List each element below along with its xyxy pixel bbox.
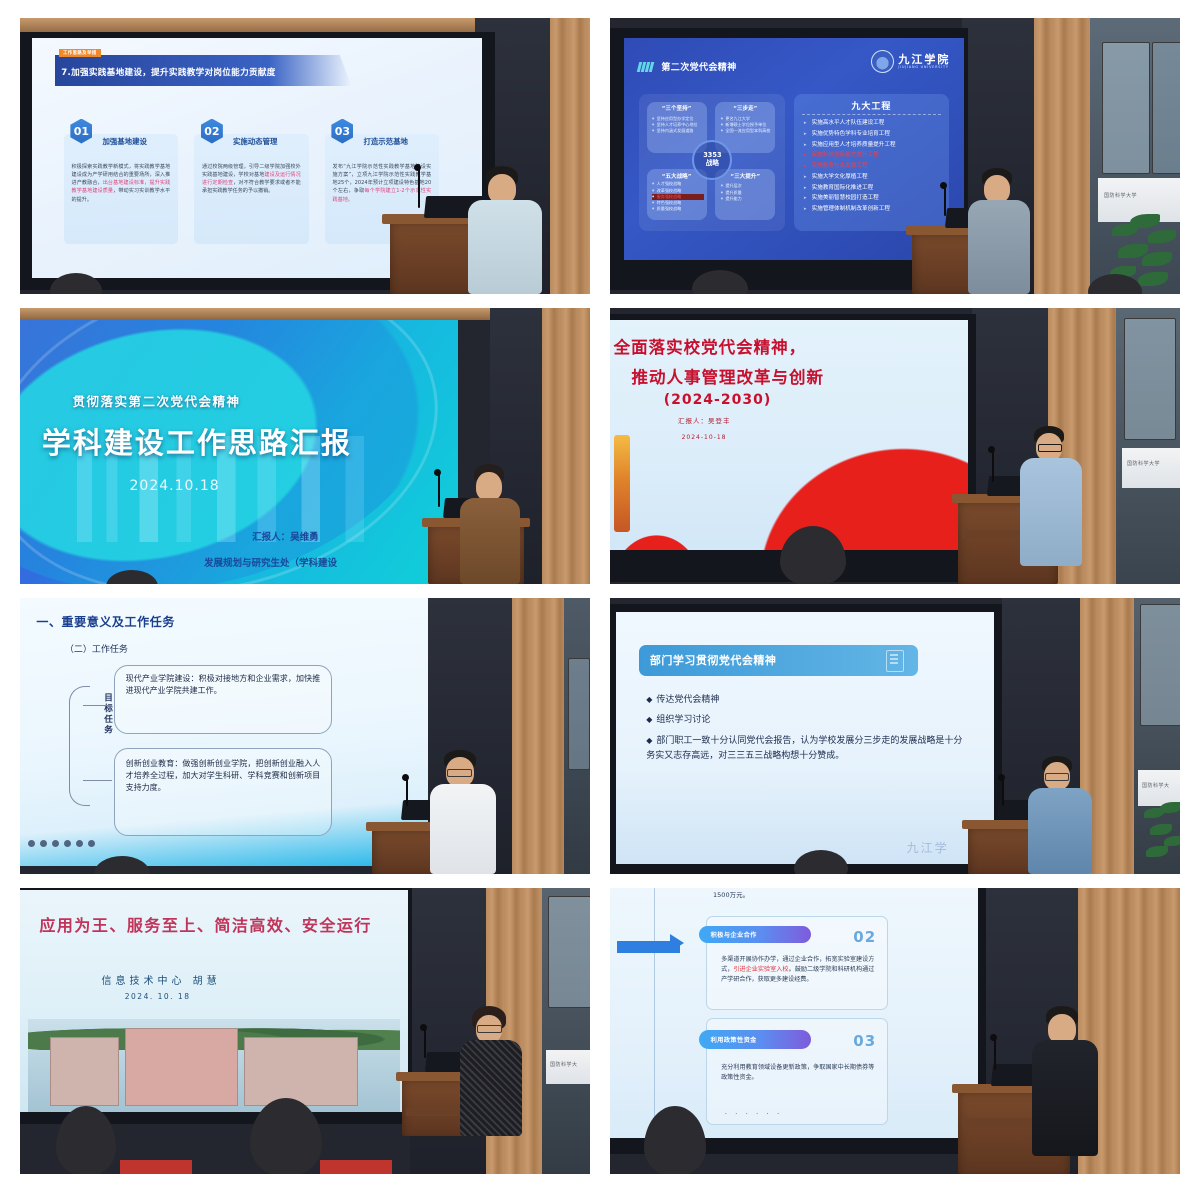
eyeglasses-icon — [1038, 444, 1062, 452]
quadrant-item: 提升能力 — [721, 196, 773, 202]
window-pane — [568, 658, 590, 770]
window-pane — [548, 896, 590, 1008]
project-item: 实施大学文化厚植工程 — [803, 172, 942, 183]
name-card — [120, 1160, 192, 1174]
card-title-03: 打造示范基地 — [364, 136, 408, 147]
speaker-body — [1032, 1040, 1098, 1156]
project-item: 实施高水平人才队伍建设工程 — [803, 118, 942, 129]
wall-poster: 国防科学大 — [546, 1050, 590, 1084]
microphone-stand — [994, 1038, 996, 1070]
slide-card-02: 02 实施动态管理 通过校院两级管理，引导二级学院加强校外实践基地建设，学校对基… — [194, 134, 309, 244]
card-body-highlight: 引进企业实验室入校 — [733, 966, 788, 973]
project-item: 实施管理体制机制改革创新工程 — [803, 204, 942, 215]
vertical-guide — [654, 888, 655, 1138]
card-chip: 积极与企业合作 — [699, 926, 811, 944]
university-name-en: JIUJIANG UNIVERSITY — [898, 65, 950, 69]
quadrant-items: 更名九江大学 新增硕士学位授予单位 全国一流应用型本科高校 — [721, 116, 773, 135]
card-body: 多渠道开展协作办学，通过企业合作，拓宽实验室建设方式，引进企业实验室入校。鼓励二… — [721, 955, 874, 985]
window-pane — [1140, 604, 1180, 726]
speaker-body — [468, 200, 542, 294]
card-body: 充分利用教育领域设备更新政策，争取国家中长期债券等政策性资金。 — [721, 1063, 874, 1083]
arrow-icon — [617, 941, 680, 954]
slide-pill-title: 部门学习贯彻党代会精神 — [650, 652, 777, 668]
photo-panel-7: 国防科学大 应用为王、服务至上、简洁高效、安全运行 信息技术中心 胡慧 2024… — [20, 888, 590, 1174]
microphone-stand — [424, 1028, 426, 1058]
wood-wall-right — [550, 18, 590, 294]
poster-text: 国防科学大 — [1142, 782, 1170, 789]
project-item: 实施应用型人才培养质量提升工程 — [803, 140, 942, 151]
card-number-01: 01 — [70, 119, 92, 144]
photo-panel-6: 国防科学大 部门学习贯彻党代会精神 传达党代会精神 组织学习讨论 部门职工一致十… — [610, 598, 1180, 874]
project-item: 实施教育国际化推进工程 — [803, 183, 942, 194]
microphone-stand — [992, 450, 994, 482]
photo-panel-8: 1500万元。 积极与企业合作 02 多渠道开展协作办学，通过企业合作，拓宽实验… — [610, 888, 1180, 1174]
torch-graphic — [614, 435, 630, 532]
slide-top-text: 1500万元。 — [713, 891, 749, 901]
speaker-body — [460, 1040, 522, 1136]
photo-panel-4: 国防科学大学 全面落实校党代会精神， 推动人事管理改革与创新 (2024-203… — [610, 308, 1180, 584]
slide-date: 2024-10-18 — [682, 434, 727, 441]
slide-presenter: 汇报人：吴维勇 — [252, 529, 319, 543]
eyeglasses-icon — [447, 769, 472, 777]
task-box-1: 现代产业学院建设：积极对接地方和企业需求，加快推进现代产业学院共建工作。 — [114, 665, 332, 734]
quadrant-item: 质量强校战略 — [652, 206, 704, 212]
card-number: 03 — [853, 1032, 876, 1050]
microphone-head — [998, 774, 1005, 781]
poster-text: 国防科学大学 — [1104, 192, 1137, 199]
task-box-text: 现代产业学院建设：积极对接地方和企业需求，加快推进现代产业学院共建工作。 — [126, 673, 321, 697]
wood-wall-right — [542, 308, 590, 584]
slide-date: 2024. 10. 18 — [125, 992, 191, 1001]
quadrant-title: “三个坚持” — [647, 104, 707, 112]
slide-subheading: （二）工作任务 — [65, 642, 128, 655]
slide-presenter: 信息技术中心 胡慧 — [101, 972, 220, 987]
wall-poster: 国防科学大 — [1138, 770, 1180, 806]
slide-title-line2: 推动人事管理改革与创新 — [631, 364, 824, 388]
task-box-2: 创新创业教育：做强创新创业学院，把创新创业融入人才培养全过程，加大对学生科研、学… — [114, 748, 332, 836]
card-number-02: 02 — [201, 119, 223, 144]
slide-presenter: 汇报人：吴登丰 — [678, 415, 731, 425]
slide-title: 应用为王、服务至上、简洁高效、安全运行 — [39, 912, 372, 936]
slide-date: 2024.10.18 — [130, 478, 220, 494]
university-seal-icon — [871, 50, 894, 73]
building-block — [50, 1037, 119, 1106]
connector-line — [83, 780, 112, 781]
core-label: 战略 — [706, 160, 719, 168]
quadrant-3: “五大战略” 人才强校战略 改革强校战略 服务强校战略 特色强校战略 质量强校战… — [647, 169, 707, 220]
poster-text: 国防科学大 — [550, 1061, 578, 1068]
project-item: 实施美丽智慧校园打造工程 — [803, 193, 942, 204]
speaker — [1020, 426, 1082, 566]
card-body-02: 通过校院两级管理，引导二级学院加强校外实践基地建设，学校对基地建设及运行情况进行… — [202, 163, 301, 196]
window-pane — [1152, 42, 1180, 174]
university-logo: 九江学院 JIUJIANG UNIVERSITY — [871, 50, 950, 73]
quadrant-item: 坚持内涵式发展道路 — [652, 128, 704, 134]
quadrant-items: 提升层次 提升质量 提升能力 — [721, 183, 773, 202]
quadrant-items: 坚持应用型办学定位 坚持人才培养中心地位 坚持内涵式发展道路 — [652, 116, 704, 135]
bullet-item: 部门职工一致十分认同党代会报告，认为学校发展分三步走的发展战略是十分务实又志存高… — [646, 734, 971, 765]
building-block — [125, 1028, 239, 1106]
speaker-body — [460, 498, 520, 584]
project-item-highlight: 实施服务社会发展工程 — [803, 161, 942, 172]
name-card — [320, 1160, 392, 1174]
building-block — [244, 1037, 358, 1106]
photo-panel-2: 国防科学大学 第二次党代会精神 九江学院 JIUJIANG UNIVERSITY… — [610, 18, 1180, 294]
speaker-body — [430, 784, 496, 874]
speaker-body — [1028, 788, 1092, 874]
microphone-head — [402, 774, 409, 781]
slide-bullets: 传达党代会精神 组织学习讨论 部门职工一致十分认同党代会报告，认为学校发展分三步… — [646, 693, 971, 770]
speaker — [430, 750, 496, 874]
slide-card-01: 01 加强基地建设 积极探索实践教学新模式，将实践教学基地建设成为产学研用结合的… — [64, 134, 179, 244]
speaker — [460, 464, 520, 584]
projection-screen-6: 部门学习贯彻党代会精神 传达党代会精神 组织学习讨论 部门职工一致十分认同党代会… — [616, 612, 994, 864]
projection-screen-7: 应用为王、服务至上、简洁高效、安全运行 信息技术中心 胡慧 2024. 10. … — [20, 890, 408, 1112]
university-name: 九江学院 — [898, 54, 950, 65]
wood-wall — [1034, 18, 1090, 294]
strategy-core-badge: 3353 战略 — [692, 140, 732, 180]
speaker — [1032, 1006, 1098, 1156]
funding-card-02: 积极与企业合作 02 多渠道开展协作办学，通过企业合作，拓宽实验室建设方式，引进… — [706, 916, 888, 1011]
speaker-body — [1020, 458, 1082, 566]
microphone-stand — [406, 778, 408, 806]
card-number-03: 03 — [331, 119, 353, 144]
microphone-stand — [418, 168, 420, 208]
speaker — [1028, 756, 1092, 874]
strategy-diagram: “三个坚持” 坚持应用型办学定位 坚持人才培养中心地位 坚持内涵式发展道路 “三… — [639, 94, 785, 232]
slide-title-line1: 全面落实校党代会精神， — [614, 334, 807, 358]
speaker-head — [984, 175, 1010, 203]
project-item: 实施优势特色学科专业培育工程 — [803, 129, 942, 140]
slide-subtitle: 贯彻落实第二次党代会精神 — [73, 391, 241, 410]
speaker-head — [476, 472, 502, 501]
ellipsis-marker: · · · · · · — [725, 1110, 782, 1118]
quadrant-title: “三步走” — [715, 104, 775, 112]
connector-line — [83, 705, 112, 706]
slide-tag: 工作思路及举措 — [59, 49, 101, 57]
book-icon — [886, 650, 904, 672]
presentation-controls[interactable] — [28, 840, 95, 847]
card-body-01: 积极探索实践教学新模式，将实践教学基地建设成为产学研用结合的重要场所，深入推进产… — [72, 163, 171, 204]
slide-watermark: 九江学 — [907, 839, 949, 856]
card-title-01: 加强基地建设 — [103, 136, 147, 147]
brace-label: 目标任务 — [102, 693, 114, 735]
eyeglasses-icon — [1045, 773, 1069, 781]
card-chip: 利用政策性资金 — [699, 1030, 811, 1050]
slide-pill-banner: 部门学习贯彻党代会精神 — [639, 645, 919, 677]
divider — [802, 114, 941, 115]
card-title-02: 实施动态管理 — [233, 136, 277, 147]
slide-heading: 一、重要意义及工作任务 — [36, 613, 175, 630]
slide-banner-title: 7.加强实践基地建设，提升实践教学对岗位能力贡献度 — [61, 66, 275, 78]
slide-title: 学科建设工作思路汇报 — [42, 420, 352, 462]
quadrant-items: 人才强校战略 改革强校战略 服务强校战略 特色强校战略 质量强校战略 — [652, 181, 704, 212]
potted-plant — [1144, 802, 1180, 874]
card-body-plain: 充分利用教育领域设备更新政策，争取国家中长期债券等政策性资金。 — [721, 1064, 874, 1081]
quadrant-4: “三大提升” 提升层次 提升质量 提升能力 — [715, 169, 775, 220]
slide-department: 发展规划与研究生处（学科建设 — [204, 555, 337, 569]
projection-screen-4: 全面落实校党代会精神， 推动人事管理改革与创新 (2024-2030) 汇报人：… — [610, 320, 968, 550]
slide-header-title: 第二次党代会精神 — [661, 60, 736, 73]
projection-screen-8: 1500万元。 积极与企业合作 02 多渠道开展协作办学，通过企业合作，拓宽实验… — [610, 888, 978, 1138]
speaker — [468, 166, 542, 294]
microphone-head — [414, 164, 421, 171]
card-chip-label: 积极与企业合作 — [711, 930, 757, 939]
microphone-head — [940, 182, 947, 189]
eyeglasses-icon — [477, 1025, 502, 1033]
window-pane — [1102, 42, 1150, 174]
campus-photo-graphic — [28, 1019, 401, 1112]
microphone-stand — [944, 186, 946, 216]
wall-poster: 国防科学大学 — [1122, 448, 1180, 488]
card-number: 02 — [853, 928, 876, 946]
speaker-body — [968, 200, 1030, 294]
window-pane — [1124, 318, 1176, 440]
poster-text: 国防科学大学 — [1127, 460, 1160, 467]
bullet-item: 传达党代会精神 — [646, 693, 971, 708]
photo-panel-1: 工作思路及举措 7.加强实践基地建设，提升实践教学对岗位能力贡献度 01 加强基… — [20, 18, 590, 294]
microphone-head — [990, 1034, 997, 1041]
task-box-text: 创新创业教育：做强创新创业学院，把创新创业融入人才培养全过程，加大对学生科研、学… — [126, 758, 321, 794]
projects-list: 实施高水平人才队伍建设工程 实施优势特色学科专业培育工程 实施应用型人才培养质量… — [803, 118, 942, 215]
funding-card-03: 利用政策性资金 03 充分利用教育领域设备更新政策，争取国家中长期债券等政策性资… — [706, 1018, 888, 1125]
microphone-head — [434, 469, 441, 476]
microphone-head — [988, 446, 995, 453]
wood-wall — [512, 598, 564, 874]
projects-title: 九大工程 — [794, 99, 949, 112]
card-chip-label: 利用政策性资金 — [711, 1035, 757, 1044]
speaker — [968, 168, 1030, 294]
slide-period: (2024-2030) — [664, 392, 772, 408]
projection-screen-3: 贯彻落实第二次党代会精神 学科建设工作思路汇报 2024.10.18 汇报人：吴… — [20, 320, 458, 584]
microphone-stand — [438, 473, 440, 507]
header-bars-icon — [638, 62, 653, 72]
photo-grid: 工作思路及举措 7.加强实践基地建设，提升实践教学对岗位能力贡献度 01 加强基… — [20, 18, 1180, 1186]
speaker — [460, 1006, 522, 1136]
nine-projects-panel: 九大工程 实施高水平人才队伍建设工程 实施优势特色学科专业培育工程 实施应用型人… — [794, 94, 949, 232]
project-item-highlight: 实施科技创新能力提升工程 — [803, 150, 942, 161]
microphone-head — [420, 1024, 427, 1031]
photo-panel-5: 一、重要意义及工作任务 （二）工作任务 目标任务 现代产业学院建设：积极对接地方… — [20, 598, 590, 874]
bullet-item: 组织学习讨论 — [646, 713, 971, 728]
photo-panel-3: 贯彻落实第二次党代会精神 学科建设工作思路汇报 2024.10.18 汇报人：吴… — [20, 308, 590, 584]
quadrant-item: 全国一流应用型本科高校 — [721, 128, 773, 134]
microphone-stand — [1002, 778, 1004, 806]
